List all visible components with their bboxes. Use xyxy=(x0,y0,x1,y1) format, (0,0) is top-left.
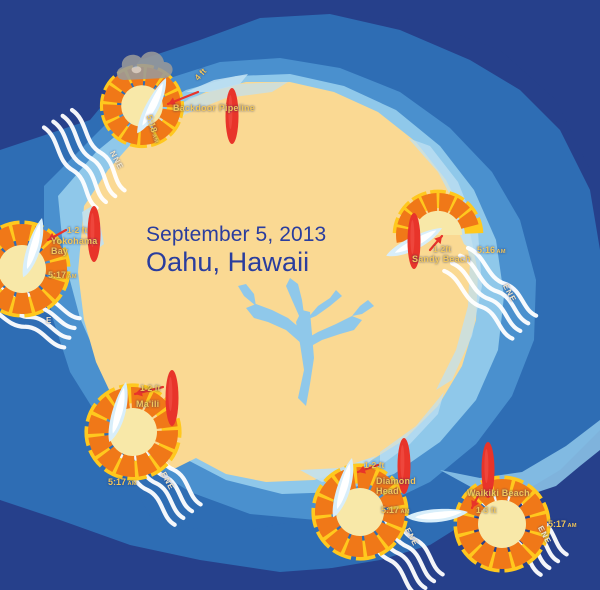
title-place: Oahu, Hawaii xyxy=(146,248,406,277)
surf-map: September 5, 2013 Oahu, Hawaii Backdoor … xyxy=(0,0,600,590)
title-date: September 5, 2013 xyxy=(146,224,406,246)
oahu-basemap xyxy=(0,0,600,590)
map-title-block: September 5, 2013 Oahu, Hawaii xyxy=(146,224,406,277)
